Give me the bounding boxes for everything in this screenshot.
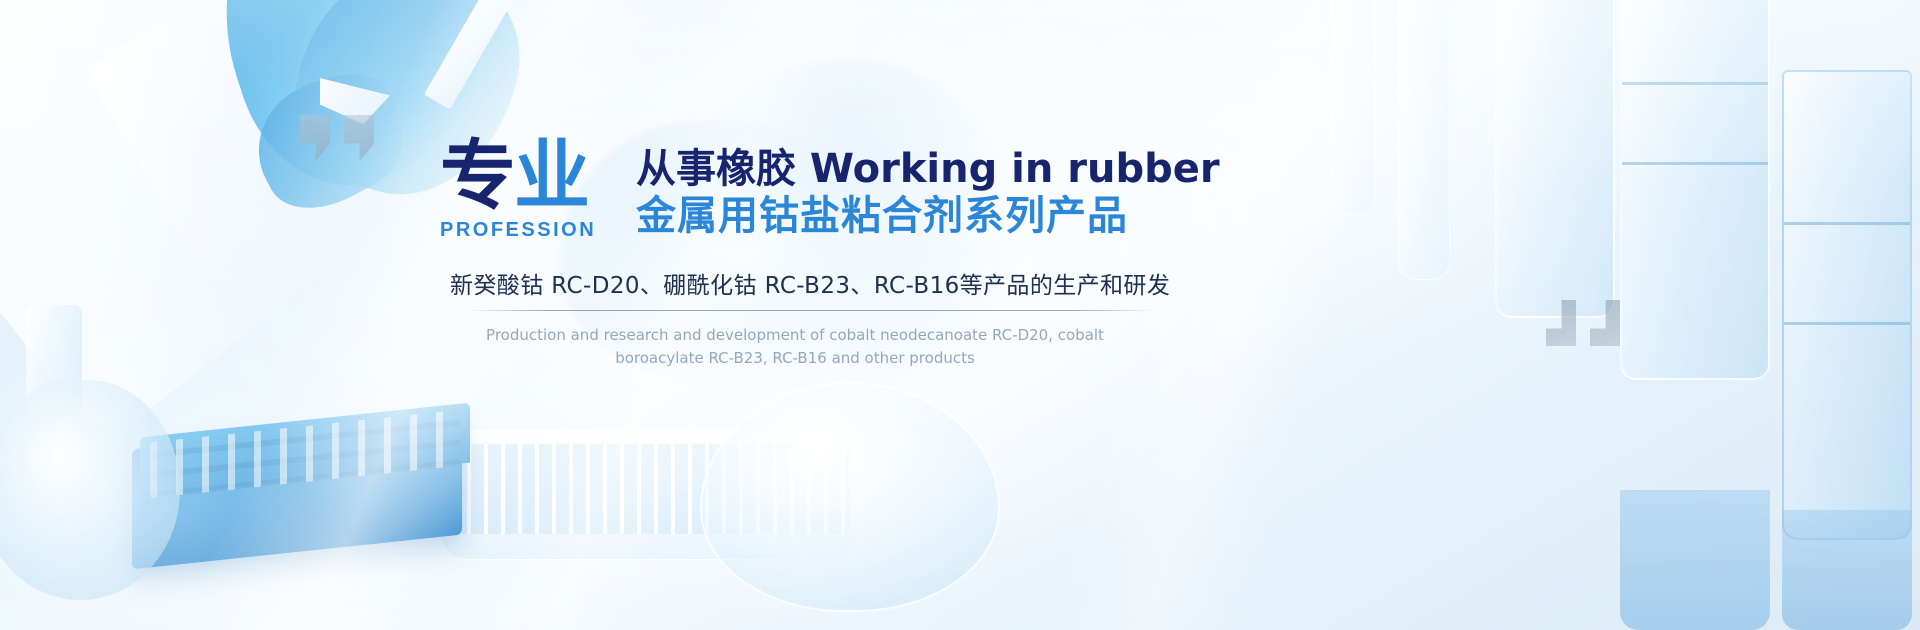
logo-char-zhuan: 专 [440,131,514,220]
close-quote-icon [1546,300,1620,346]
heading-line-1: 从事橡胶 Working in rubber [636,146,1220,193]
quote-glyph [344,115,374,161]
subtitle-english: Production and research and development … [450,324,1140,371]
quote-glyph [300,115,330,161]
banner-headings: 从事橡胶 Working in rubber 金属用钴盐粘合剂系列产品 [636,146,1220,244]
banner-top-row: 专业 PROFESSION 从事橡胶 Working in rubber 金属用… [440,110,1170,244]
subtitle-chinese: 新癸酸钴 RC-D20、硼酰化钴 RC-B23、RC-B16等产品的生产和研发 [450,266,1170,300]
open-quote-icon [300,115,374,161]
banner-content: 专业 PROFESSION 从事橡胶 Working in rubber 金属用… [440,110,1170,371]
profession-logo: 专业 PROFESSION [440,140,600,244]
hero-banner: 专业 PROFESSION 从事橡胶 Working in rubber 金属用… [0,0,1920,630]
subtitle-divider-rule [465,310,1155,311]
quote-glyph [1546,300,1576,346]
logo-english-profession: PROFESSION [440,219,600,242]
logo-chinese: 专业 [440,140,600,213]
heading-line-2: 金属用钴盐粘合剂系列产品 [636,193,1220,240]
quote-glyph [1590,300,1620,346]
logo-char-ye: 业 [514,131,588,220]
banner-subtitle-block: 新癸酸钴 RC-D20、硼酰化钴 RC-B23、RC-B16等产品的生产和研发 … [440,266,1170,371]
